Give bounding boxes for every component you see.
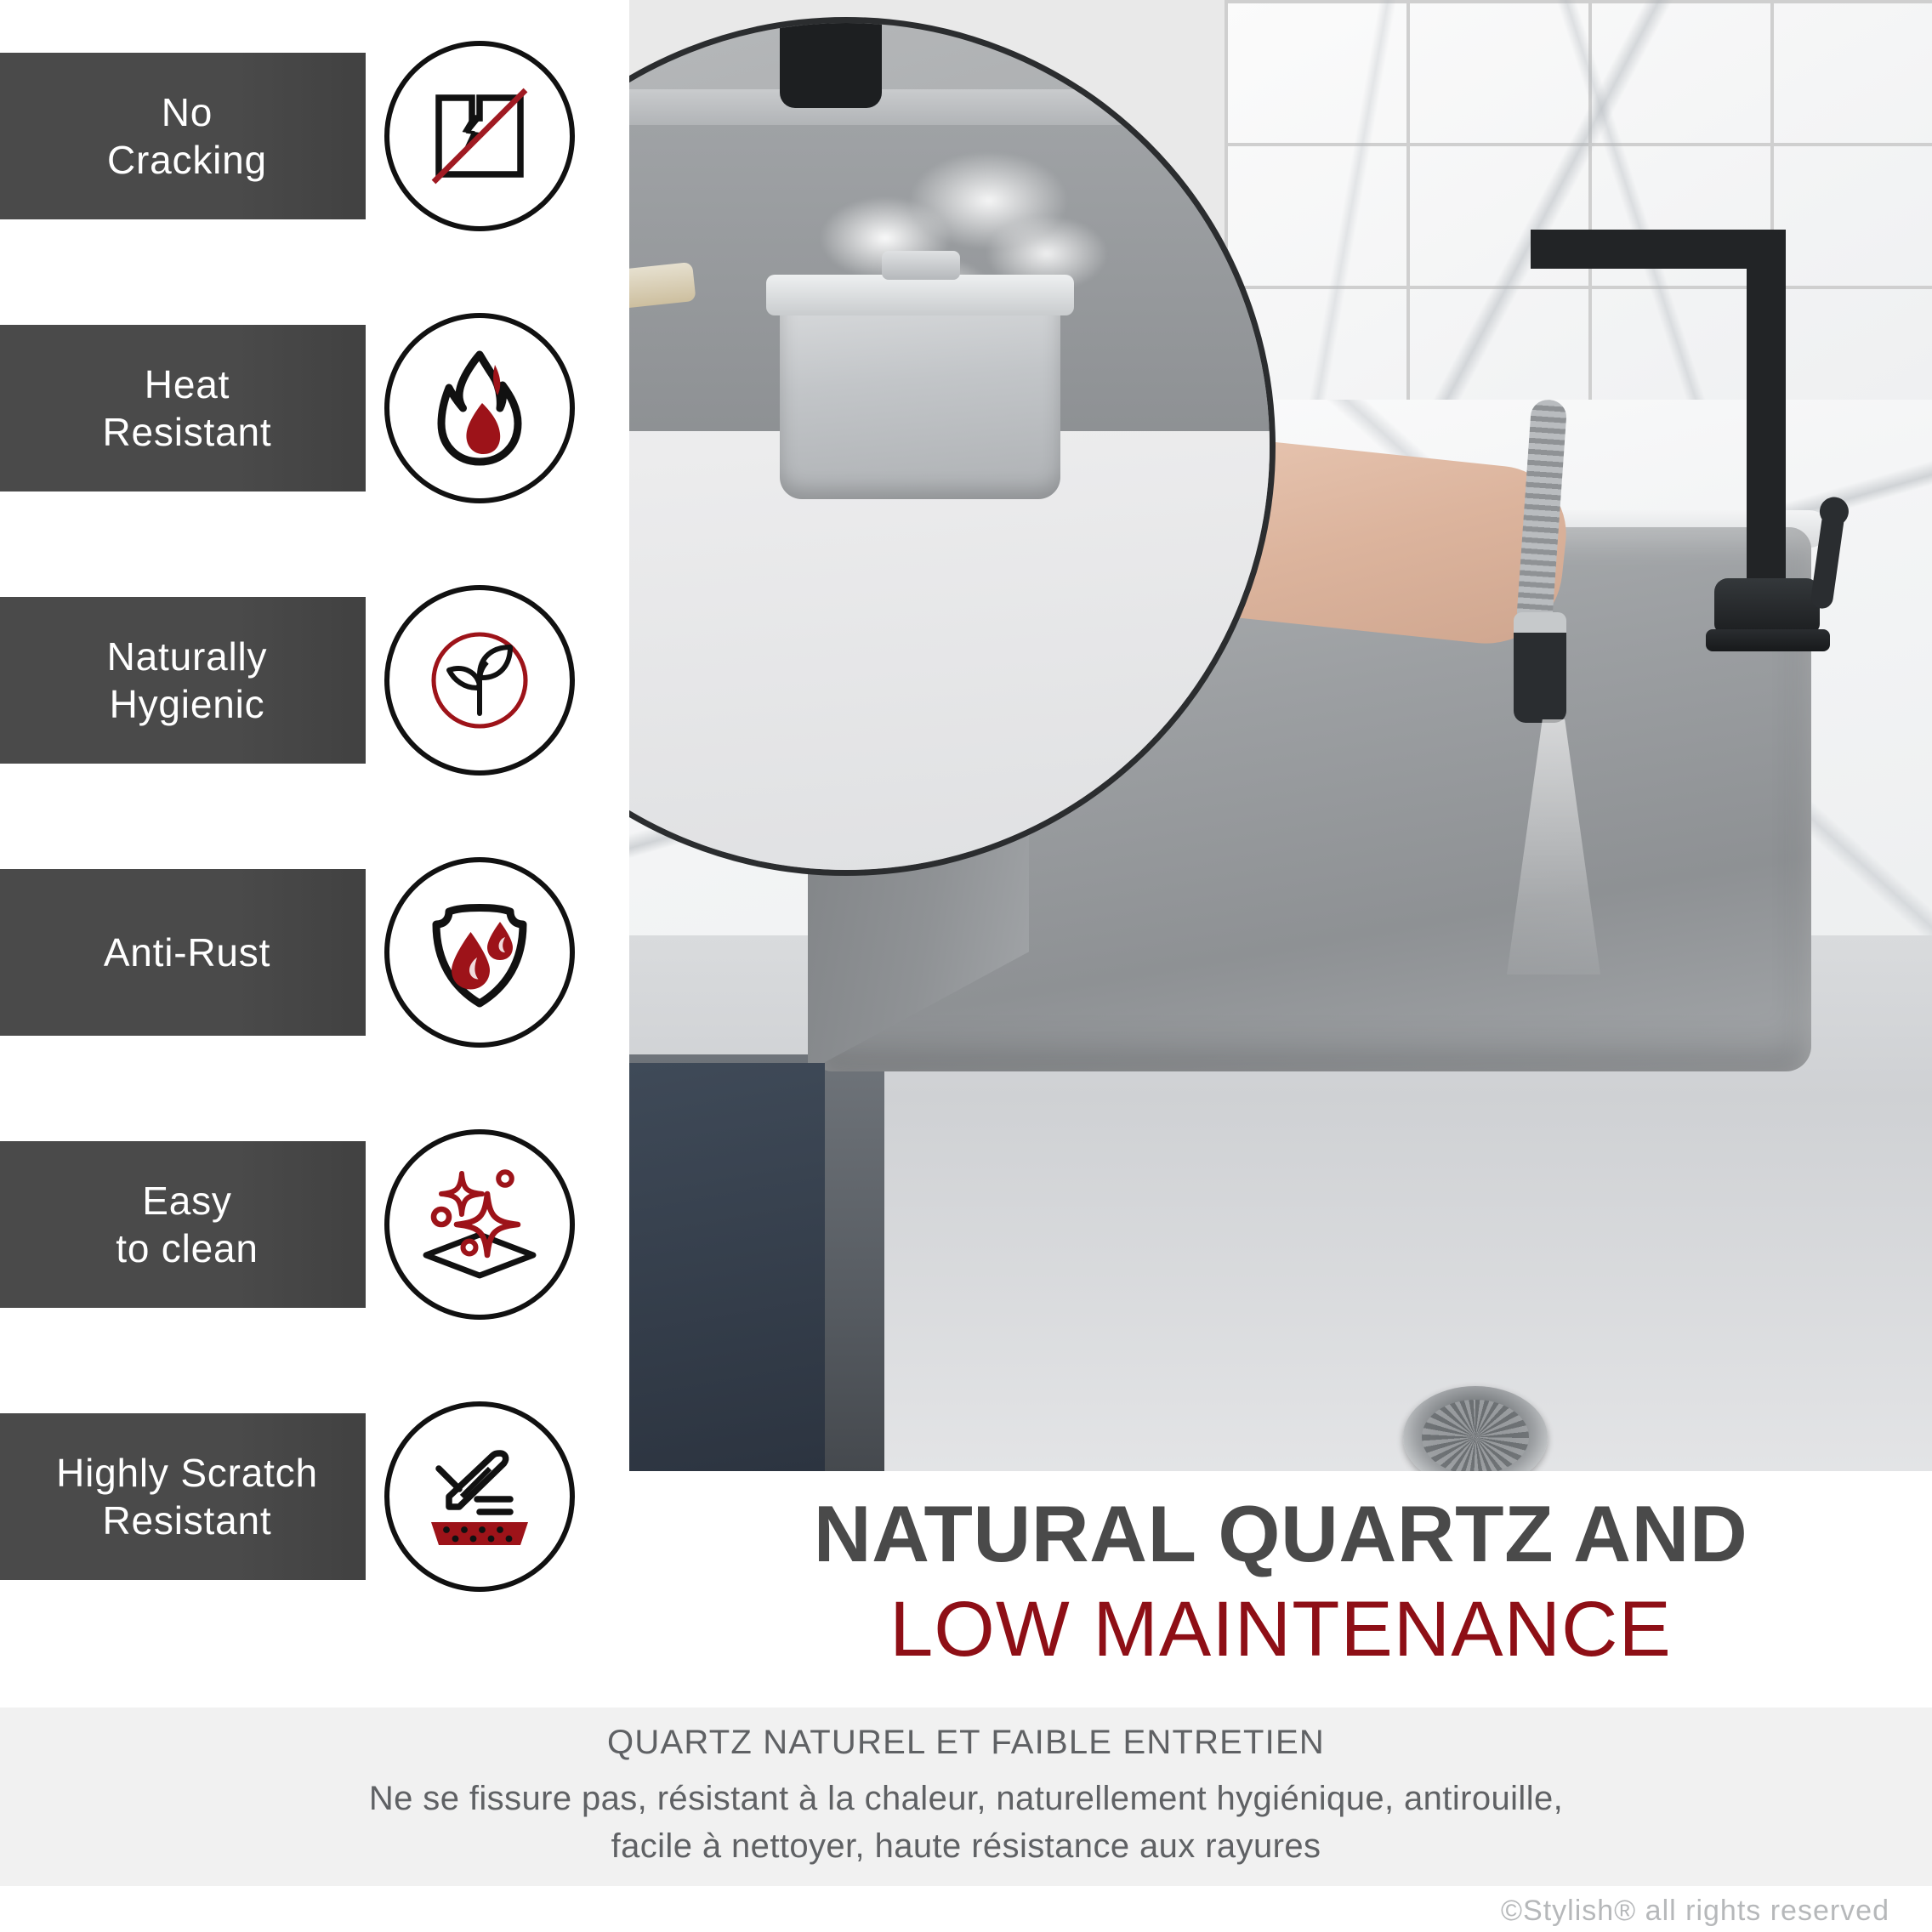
feature-label-no-cracking: No Cracking (107, 88, 267, 184)
footer-heading-fr: QUARTZ NATUREL ET FAIBLE ENTRETIEN (607, 1724, 1325, 1762)
feature-list: No Cracking Heat Resistant (0, 0, 629, 1650)
leaf-hygienic-icon (384, 585, 575, 776)
feature-bar: No Cracking (0, 53, 425, 219)
feature-bar: Anti-Rust (0, 869, 425, 1036)
feature-row-naturally-hygienic: Naturally Hygienic (0, 578, 629, 782)
faucet-column (1747, 255, 1786, 595)
pot-lid (766, 275, 1074, 315)
sparkle-surface-icon (384, 1129, 575, 1320)
feature-bar: Easy to clean (0, 1141, 425, 1308)
hot-pot (780, 304, 1060, 499)
headline-primary: NATURAL QUARTZ AND (814, 1492, 1748, 1577)
feature-bar: Highly Scratch Resistant (0, 1413, 425, 1580)
feature-label-highly-scratch-resistant: Highly Scratch Resistant (56, 1449, 318, 1544)
feature-bar: Heat Resistant (0, 325, 425, 492)
no-cracking-icon (384, 41, 575, 231)
footer-band: QUARTZ NATUREL ET FAIBLE ENTRETIEN Ne se… (0, 1708, 1932, 1886)
feature-row-no-cracking: No Cracking (0, 34, 629, 238)
inset-faucet (780, 17, 882, 108)
shield-droplet-icon (384, 857, 575, 1048)
feature-label-naturally-hygienic: Naturally Hygienic (107, 633, 268, 728)
feature-row-heat-resistant: Heat Resistant (0, 306, 629, 510)
headline-block: NATURAL QUARTZ AND LOW MAINTENANCE (629, 1476, 1932, 1689)
faucet-mounting-plate (1706, 629, 1830, 651)
faucet-base (1714, 578, 1820, 633)
feature-row-highly-scratch-resistant: Highly Scratch Resistant (0, 1395, 629, 1599)
inset-faucet-secondary (629, 17, 637, 76)
feature-row-anti-rust: Anti-Rust (0, 850, 629, 1054)
feature-label-anti-rust: Anti-Rust (104, 929, 270, 976)
flame-icon (384, 313, 575, 503)
person-jeans (629, 1063, 825, 1471)
footer-text-line-2: facile à nettoyer, haute résistance aux … (611, 1823, 1321, 1870)
sprayer-head (1514, 612, 1566, 723)
feature-row-easy-to-clean: Easy to clean (0, 1122, 629, 1327)
feature-bar: Naturally Hygienic (0, 597, 425, 764)
headline-secondary: LOW MAINTENANCE (889, 1586, 1672, 1673)
feature-label-heat-resistant: Heat Resistant (103, 361, 272, 456)
product-photo (629, 0, 1932, 1471)
copyright-notice: ©Stylish® all rights reserved (1501, 1895, 1889, 1928)
feature-label-easy-to-clean: Easy to clean (116, 1177, 259, 1272)
infographic-page: No Cracking Heat Resistant (0, 0, 1932, 1932)
inset-circle-steaming-pot (629, 17, 1276, 876)
pot-knob (882, 251, 960, 280)
knife-scratch-icon (384, 1401, 575, 1592)
footer-text-line-1: Ne se fissure pas, résistant à la chaleu… (369, 1776, 1563, 1822)
